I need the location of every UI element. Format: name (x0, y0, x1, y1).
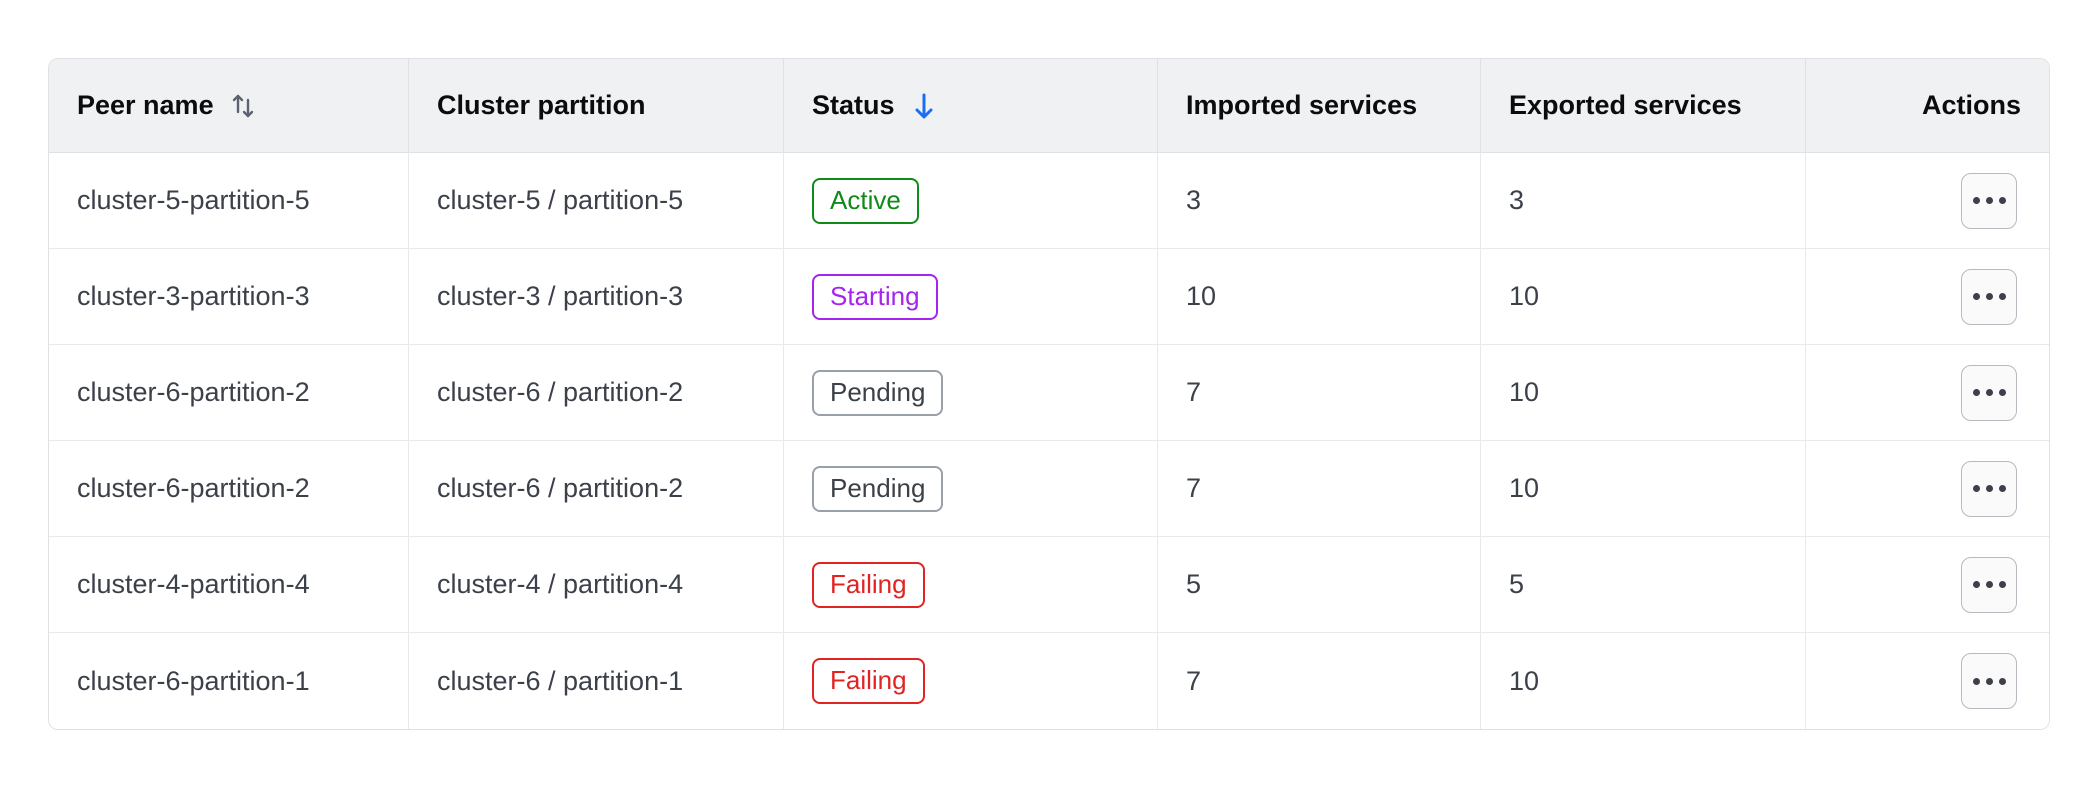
column-header-label: Cluster partition (437, 90, 646, 121)
table-row: cluster-4-partition-4cluster-4 / partiti… (49, 537, 2049, 633)
row-actions-button[interactable] (1961, 269, 2017, 325)
column-header-label: Imported services (1186, 90, 1417, 121)
column-header-imported-services[interactable]: Imported services (1158, 59, 1481, 153)
column-header-label: Status (812, 90, 895, 121)
cell-peer-name: cluster-3-partition-3 (49, 249, 409, 345)
status-badge: Active (812, 178, 919, 224)
cell-exported-services: 10 (1481, 633, 1806, 729)
cell-imported-services: 7 (1158, 345, 1481, 441)
cell-peer-name: cluster-4-partition-4 (49, 537, 409, 633)
cell-imported-services: 3 (1158, 153, 1481, 249)
column-header-label: Actions (1922, 90, 2021, 121)
column-header-cluster-partition[interactable]: Cluster partition (409, 59, 784, 153)
cell-cluster-partition: cluster-4 / partition-4 (409, 537, 784, 633)
status-badge: Pending (812, 466, 943, 512)
column-header-label: Exported services (1509, 90, 1742, 121)
cell-cluster-partition: cluster-5 / partition-5 (409, 153, 784, 249)
status-badge: Pending (812, 370, 943, 416)
ellipsis-icon (1973, 293, 2006, 300)
cell-peer-name: cluster-6-partition-2 (49, 441, 409, 537)
column-header-actions: Actions (1806, 59, 2049, 153)
ellipsis-icon (1973, 197, 2006, 204)
peers-table: Peer name (48, 58, 2050, 730)
cell-status: Pending (784, 345, 1158, 441)
table-row: cluster-3-partition-3cluster-3 / partiti… (49, 249, 2049, 345)
column-header-peer-name[interactable]: Peer name (49, 59, 409, 153)
row-actions-button[interactable] (1961, 365, 2017, 421)
column-header-label: Peer name (77, 90, 214, 121)
peers-table-page: Peer name (0, 0, 2096, 808)
cell-actions (1806, 441, 2049, 537)
cell-exported-services: 5 (1481, 537, 1806, 633)
cell-status: Failing (784, 633, 1158, 729)
cell-status: Active (784, 153, 1158, 249)
row-actions-button[interactable] (1961, 461, 2017, 517)
cell-cluster-partition: cluster-6 / partition-2 (409, 345, 784, 441)
cell-exported-services: 3 (1481, 153, 1806, 249)
cell-imported-services: 10 (1158, 249, 1481, 345)
cell-status: Starting (784, 249, 1158, 345)
sort-both-icon[interactable] (230, 91, 256, 121)
cell-exported-services: 10 (1481, 441, 1806, 537)
table-header: Peer name (49, 59, 2049, 153)
cell-actions (1806, 249, 2049, 345)
cell-imported-services: 7 (1158, 441, 1481, 537)
cell-status: Pending (784, 441, 1158, 537)
ellipsis-icon (1973, 678, 2006, 685)
table-row: cluster-5-partition-5cluster-5 / partiti… (49, 153, 2049, 249)
table-body: cluster-5-partition-5cluster-5 / partiti… (49, 153, 2049, 729)
status-badge: Failing (812, 658, 925, 704)
column-header-exported-services[interactable]: Exported services (1481, 59, 1806, 153)
ellipsis-icon (1973, 485, 2006, 492)
cell-peer-name: cluster-6-partition-1 (49, 633, 409, 729)
cell-imported-services: 5 (1158, 537, 1481, 633)
ellipsis-icon (1973, 389, 2006, 396)
cell-cluster-partition: cluster-3 / partition-3 (409, 249, 784, 345)
row-actions-button[interactable] (1961, 173, 2017, 229)
table-row: cluster-6-partition-2cluster-6 / partiti… (49, 441, 2049, 537)
cell-actions (1806, 537, 2049, 633)
cell-status: Failing (784, 537, 1158, 633)
status-badge: Failing (812, 562, 925, 608)
row-actions-button[interactable] (1961, 653, 2017, 709)
ellipsis-icon (1973, 581, 2006, 588)
cell-actions (1806, 153, 2049, 249)
cell-exported-services: 10 (1481, 249, 1806, 345)
arrow-down-icon[interactable] (911, 90, 937, 122)
cell-exported-services: 10 (1481, 345, 1806, 441)
cell-peer-name: cluster-6-partition-2 (49, 345, 409, 441)
row-actions-button[interactable] (1961, 557, 2017, 613)
status-badge: Starting (812, 274, 938, 320)
cell-imported-services: 7 (1158, 633, 1481, 729)
table-row: cluster-6-partition-1cluster-6 / partiti… (49, 633, 2049, 729)
cell-peer-name: cluster-5-partition-5 (49, 153, 409, 249)
table-row: cluster-6-partition-2cluster-6 / partiti… (49, 345, 2049, 441)
cell-actions (1806, 345, 2049, 441)
column-header-status[interactable]: Status (784, 59, 1158, 153)
cell-actions (1806, 633, 2049, 729)
header-row: Peer name (49, 59, 2049, 153)
cell-cluster-partition: cluster-6 / partition-2 (409, 441, 784, 537)
cell-cluster-partition: cluster-6 / partition-1 (409, 633, 784, 729)
